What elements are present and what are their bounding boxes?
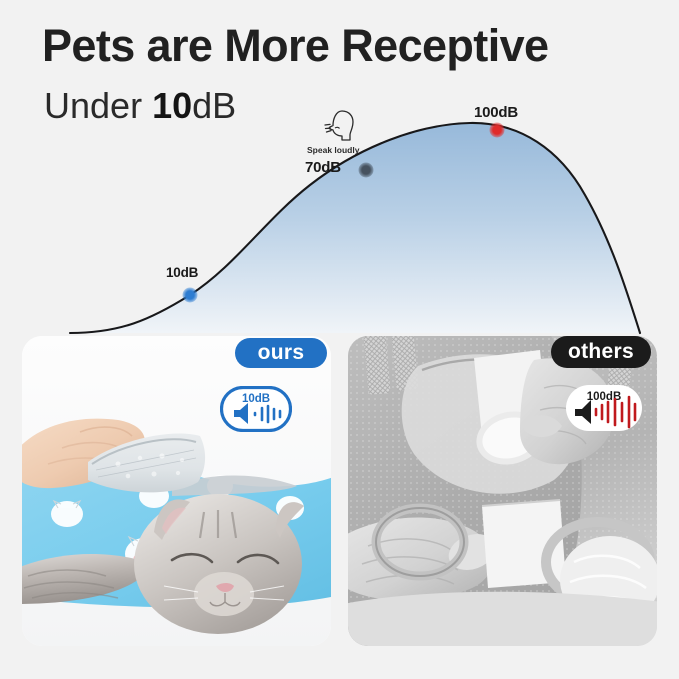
data-label-70db: 70dB (305, 159, 341, 176)
photo-ours (22, 336, 331, 646)
data-label-100db: 100dB (474, 104, 518, 121)
photo-panel-ours (22, 336, 331, 646)
speaker-loud-icon: 100dB (565, 384, 643, 432)
data-label-10db: 10dB (166, 265, 198, 280)
photo-panel-others (348, 336, 657, 646)
page-title: Pets are More Receptive (42, 22, 548, 69)
chip-label-10db: 10dB (242, 393, 270, 405)
badge-ours: ours (235, 338, 327, 368)
speaker-quiet-icon: 10dB (220, 386, 292, 432)
photo-others (348, 336, 657, 646)
data-point-100db (490, 123, 505, 138)
badge-others: others (551, 336, 651, 368)
infographic-page: Pets are More Receptive Under 10dB (0, 0, 679, 679)
speaking-head-icon (320, 107, 360, 147)
data-point-10db (183, 288, 198, 303)
speak-loudly-caption: Speak loudly (307, 145, 359, 155)
data-point-70db (359, 163, 374, 178)
